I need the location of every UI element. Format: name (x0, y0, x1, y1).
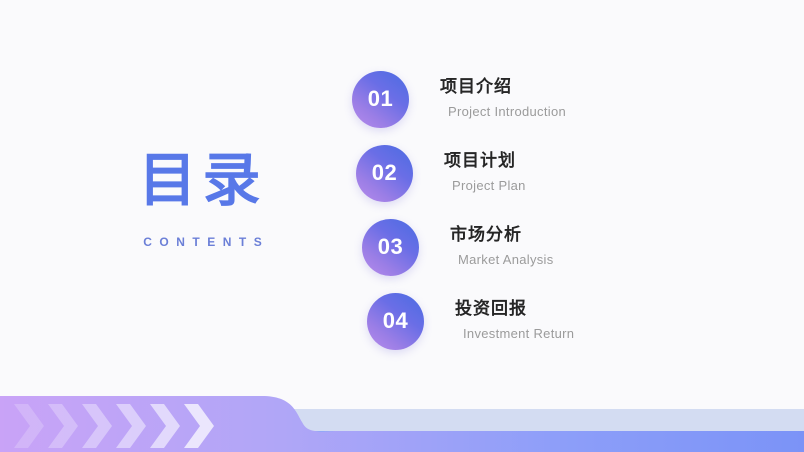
number-badge: 01 (352, 71, 409, 128)
number-badge: 04 (367, 293, 424, 350)
list-item[interactable]: 02 项目计划 Project Plan (356, 136, 772, 210)
list-item-labels: 项目介绍 Project Introduction (440, 76, 566, 121)
title-block: 目录 CONTENTS (60, 150, 345, 249)
list-item[interactable]: 01 项目介绍 Project Introduction (352, 62, 772, 136)
list-item-title-cn: 项目计划 (444, 150, 526, 173)
list-item-title-en: Project Introduction (448, 102, 566, 122)
contents-list: 01 项目介绍 Project Introduction 02 项目计划 Pro… (352, 62, 772, 358)
number-badge-label: 03 (378, 236, 403, 258)
number-badge-label: 01 (368, 88, 393, 110)
list-item[interactable]: 03 市场分析 Market Analysis (362, 210, 772, 284)
list-item-title-en: Market Analysis (458, 250, 554, 270)
list-item-labels: 项目计划 Project Plan (444, 150, 526, 195)
number-badge: 02 (356, 145, 413, 202)
list-item[interactable]: 04 投资回报 Investment Return (367, 284, 772, 358)
list-item-title-en: Investment Return (463, 324, 574, 344)
page-title: 目录 (60, 150, 345, 213)
list-item-title-cn: 投资回报 (455, 298, 574, 321)
list-item-labels: 投资回报 Investment Return (455, 298, 574, 343)
list-item-title-cn: 项目介绍 (440, 76, 566, 99)
bottom-decoration (0, 382, 804, 452)
number-badge: 03 (362, 219, 419, 276)
presentation-slide: 目录 CONTENTS 01 项目介绍 Project Introduction… (0, 0, 804, 452)
list-item-title-en: Project Plan (452, 176, 526, 196)
list-item-labels: 市场分析 Market Analysis (450, 224, 554, 269)
number-badge-label: 02 (372, 162, 397, 184)
number-badge-label: 04 (383, 310, 408, 332)
list-item-title-cn: 市场分析 (450, 224, 554, 247)
page-subtitle: CONTENTS (60, 235, 345, 249)
